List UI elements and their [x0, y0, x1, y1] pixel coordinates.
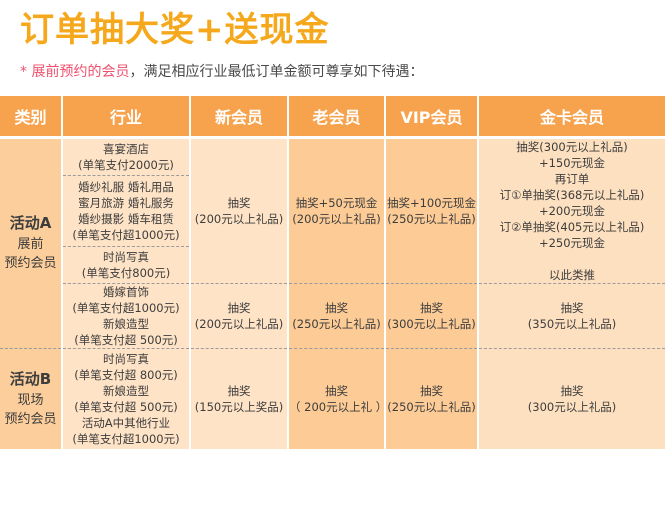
industry-line: 新娘造型	[63, 383, 189, 399]
col-header-old-member: 老会员	[288, 96, 385, 138]
table-row: 活动B现场预约会员时尚写真(单笔支付超 800元)新娘造型(单笔支付超 500元…	[0, 349, 665, 450]
category-line2: 展前	[0, 235, 61, 254]
gold-member-cell: 抽奖(300元以上礼品)	[478, 349, 665, 450]
gold-member-cell: 抽奖(300元以上礼品)+150元现金再订单订①单抽奖(368元以上礼品)+20…	[478, 138, 665, 284]
new-member-cell-line: 抽奖	[191, 300, 287, 316]
col-header-vip-member: VIP会员	[385, 96, 478, 138]
vip-member-cell-line: (250元以上礼品)	[386, 211, 477, 227]
page-subtitle: * 展前预约的会员，满足相应行业最低订单金额可尊享如下待遇：	[20, 62, 423, 82]
industry-line: (单笔支付超1000元)	[63, 431, 189, 447]
industry-cell: 婚纱礼服 婚礼用品蜜月旅游 婚礼服务婚纱摄影 婚车租赁(单笔支付超1000元)	[62, 175, 190, 247]
gold-member-cell-line: +150元现金	[479, 155, 665, 171]
gold-member-cell-line: +250元现金	[479, 235, 665, 251]
industry-line: 活动A中其他行业	[63, 415, 189, 431]
old-member-cell: 抽奖+50元现金(200元以上礼品)	[288, 138, 385, 284]
old-member-cell-line: 抽奖+50元现金	[289, 195, 384, 211]
gold-member-cell-line: +200元现金	[479, 203, 665, 219]
new-member-cell: 抽奖(200元以上礼品)	[190, 284, 288, 349]
old-member-cell: 抽奖（ 200元以上礼 ）	[288, 349, 385, 450]
gold-member-cell-line: 再订单	[479, 171, 665, 187]
gold-member-cell: 抽奖(350元以上礼品)	[478, 284, 665, 349]
industry-line: (单笔支付超 500元)	[63, 332, 189, 348]
gold-member-cell-line: (350元以上礼品)	[479, 316, 665, 332]
col-header-new-member: 新会员	[190, 96, 288, 138]
gold-member-cell-line: (300元以上礼品)	[479, 399, 665, 415]
new-member-cell-line: (150元以上奖品)	[191, 399, 287, 415]
new-member-cell-line: (200元以上礼品)	[191, 211, 287, 227]
industry-line: (单笔支付超 500元)	[63, 399, 189, 415]
gold-member-cell-line: 订①单抽奖(368元以上礼品)	[479, 187, 665, 203]
old-member-cell-line: (200元以上礼品)	[289, 211, 384, 227]
vip-member-cell-line: 抽奖+100元现金	[386, 195, 477, 211]
industry-line: (单笔支付超1000元)	[63, 300, 189, 316]
col-header-industry: 行业	[62, 96, 190, 138]
category-line3: 预约会员	[0, 410, 61, 429]
category-name: 活动B	[0, 370, 61, 389]
subtitle-rest: ，满足相应行业最低订单金额可尊享如下待遇：	[129, 64, 423, 80]
category-name: 活动A	[0, 214, 61, 233]
industry-cell: 时尚写真(单笔支付800元)	[62, 247, 190, 284]
industry-cell: 时尚写真(单笔支付超 800元)新娘造型(单笔支付超 500元)活动A中其他行业…	[62, 349, 190, 450]
industry-line: 婚嫁首饰	[63, 284, 189, 300]
vip-member-cell-line: (300元以上礼品)	[386, 316, 477, 332]
vip-member-cell: 抽奖(250元以上礼品)	[385, 349, 478, 450]
industry-line: (单笔支付超 800元)	[63, 367, 189, 383]
new-member-cell: 抽奖(200元以上礼品)	[190, 138, 288, 284]
col-header-category: 类别	[0, 96, 62, 138]
gold-member-cell-line: 抽奖(300元以上礼品)	[479, 139, 665, 155]
col-header-gold-member: 金卡会员	[478, 96, 665, 138]
vip-member-cell: 抽奖+100元现金(250元以上礼品)	[385, 138, 478, 284]
promo-page: 订单抽大奖+送现金 * 展前预约的会员，满足相应行业最低订单金额可尊享如下待遇：…	[0, 0, 665, 516]
gold-member-cell-line	[479, 251, 665, 267]
old-member-cell-line: 抽奖	[289, 383, 384, 399]
industry-line: (单笔支付2000元)	[63, 157, 189, 173]
table-row: 婚嫁首饰(单笔支付超1000元)新娘造型(单笔支付超 500元)抽奖(200元以…	[0, 284, 665, 349]
gold-member-cell-line: 订②单抽奖(405元以上礼品)	[479, 219, 665, 235]
industry-cell: 喜宴酒店(单笔支付2000元)	[62, 138, 190, 176]
industry-line: 婚纱摄影 婚车租赁	[63, 211, 189, 227]
new-member-cell-line: 抽奖	[191, 195, 287, 211]
industry-line: 时尚写真	[63, 249, 189, 265]
gold-member-cell-line: 以此类推	[479, 267, 665, 283]
old-member-cell-line: (250元以上礼品)	[289, 316, 384, 332]
page-title: 订单抽大奖+送现金	[20, 8, 330, 52]
industry-line: 新娘造型	[63, 316, 189, 332]
category-cell: 活动B现场预约会员	[0, 349, 62, 450]
industry-line: 婚纱礼服 婚礼用品	[63, 179, 189, 195]
industry-line: (单笔支付800元)	[63, 265, 189, 281]
industry-cell: 婚嫁首饰(单笔支付超1000元)新娘造型(单笔支付超 500元)	[62, 284, 190, 349]
table-row: 活动A展前预约会员喜宴酒店(单笔支付2000元)抽奖(200元以上礼品)抽奖+5…	[0, 138, 665, 176]
vip-member-cell-line: (250元以上礼品)	[386, 399, 477, 415]
old-member-cell-line: （ 200元以上礼 ）	[289, 399, 384, 415]
category-cell: 活动A展前预约会员	[0, 138, 62, 349]
table-header-row: 类别 行业 新会员 老会员 VIP会员 金卡会员	[0, 96, 665, 138]
gold-member-cell-line: 抽奖	[479, 383, 665, 399]
new-member-cell: 抽奖(150元以上奖品)	[190, 349, 288, 450]
category-line3: 预约会员	[0, 254, 61, 273]
gold-member-cell-line: 抽奖	[479, 300, 665, 316]
new-member-cell-line: (200元以上礼品)	[191, 316, 287, 332]
benefits-table: 类别 行业 新会员 老会员 VIP会员 金卡会员 活动A展前预约会员喜宴酒店(单…	[0, 96, 665, 449]
old-member-cell: 抽奖(250元以上礼品)	[288, 284, 385, 349]
subtitle-highlight: * 展前预约的会员	[20, 64, 129, 80]
vip-member-cell-line: 抽奖	[386, 300, 477, 316]
old-member-cell-line: 抽奖	[289, 300, 384, 316]
vip-member-cell: 抽奖(300元以上礼品)	[385, 284, 478, 349]
table-body: 活动A展前预约会员喜宴酒店(单笔支付2000元)抽奖(200元以上礼品)抽奖+5…	[0, 138, 665, 450]
industry-line: (单笔支付超1000元)	[63, 227, 189, 243]
new-member-cell-line: 抽奖	[191, 383, 287, 399]
industry-line: 时尚写真	[63, 351, 189, 367]
category-line2: 现场	[0, 391, 61, 410]
vip-member-cell-line: 抽奖	[386, 383, 477, 399]
industry-line: 喜宴酒店	[63, 141, 189, 157]
industry-line: 蜜月旅游 婚礼服务	[63, 195, 189, 211]
